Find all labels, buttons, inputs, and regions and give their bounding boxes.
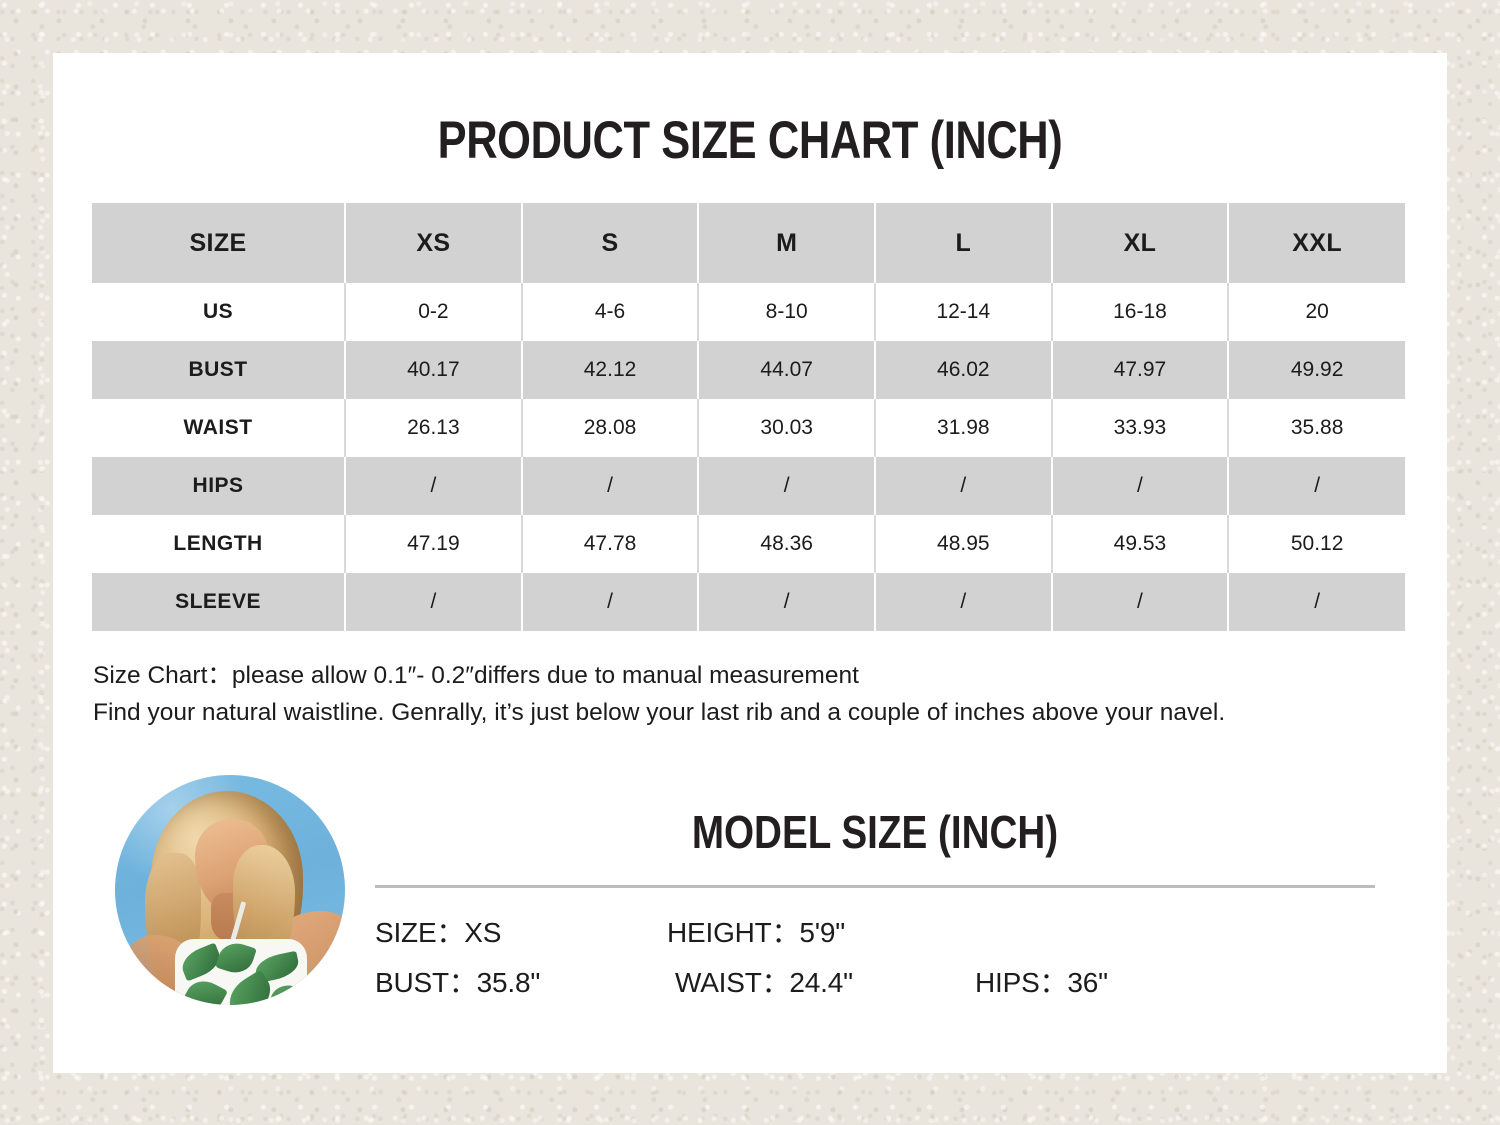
cell-length-s: 47.78	[522, 515, 699, 573]
note-line-1: Size Chart：please allow 0.1″- 0.2″differ…	[93, 657, 1413, 694]
cell-length-m: 48.36	[698, 515, 875, 573]
model-size-section: MODEL SIZE (INCH) SIZE：XS HEIGHT：5'9" BU…	[53, 753, 1447, 1053]
cell-waist-m: 30.03	[698, 399, 875, 457]
row-label-waist: WAIST	[92, 399, 345, 457]
cell-bust-m: 44.07	[698, 341, 875, 399]
page-title: PRODUCT SIZE CHART (INCH)	[178, 110, 1321, 171]
table-row: WAIST 26.13 28.08 30.03 31.98 33.93 35.8…	[92, 399, 1405, 457]
cell-us-l: 12-14	[875, 283, 1052, 341]
cell-sleeve-s: /	[522, 573, 699, 631]
cell-bust-s: 42.12	[522, 341, 699, 399]
product-size-table: SIZE XS S M L XL XXL US 0-2 4-6 8-10 12-…	[92, 203, 1405, 631]
measurement-notes: Size Chart：please allow 0.1″- 0.2″differ…	[93, 657, 1413, 731]
row-label-sleeve: SLEEVE	[92, 573, 345, 631]
model-stat-hips: HIPS：36"	[975, 961, 1108, 1001]
model-stats: SIZE：XS HEIGHT：5'9" BUST：35.8" WAIST：24.…	[375, 905, 1385, 1015]
row-label-bust: BUST	[92, 341, 345, 399]
cell-us-xxl: 20	[1228, 283, 1405, 341]
cell-length-xxl: 50.12	[1228, 515, 1405, 573]
cell-length-l: 48.95	[875, 515, 1052, 573]
leaf-icon	[215, 939, 257, 978]
table-row: HIPS / / / / / /	[92, 457, 1405, 515]
column-header-s: S	[522, 203, 699, 283]
column-header-m: M	[698, 203, 875, 283]
cell-hips-xxl: /	[1228, 457, 1405, 515]
column-header-xl: XL	[1052, 203, 1229, 283]
cell-bust-xxl: 49.92	[1228, 341, 1405, 399]
cell-waist-xl: 33.93	[1052, 399, 1229, 457]
cell-bust-xl: 47.97	[1052, 341, 1229, 399]
cell-bust-xs: 40.17	[345, 341, 522, 399]
column-header-size: SIZE	[92, 203, 345, 283]
table-row: BUST 40.17 42.12 44.07 46.02 47.97 49.92	[92, 341, 1405, 399]
model-tropical-top	[175, 939, 307, 1005]
column-header-l: L	[875, 203, 1052, 283]
cell-waist-xs: 26.13	[345, 399, 522, 457]
model-stat-height: HEIGHT：5'9"	[667, 911, 845, 951]
cell-length-xs: 47.19	[345, 515, 522, 573]
cell-us-s: 4-6	[522, 283, 699, 341]
cell-sleeve-xl: /	[1052, 573, 1229, 631]
cell-us-xl: 16-18	[1052, 283, 1229, 341]
model-photo	[115, 775, 345, 1005]
row-label-length: LENGTH	[92, 515, 345, 573]
leaf-icon	[268, 982, 306, 1005]
cell-hips-s: /	[522, 457, 699, 515]
cell-waist-l: 31.98	[875, 399, 1052, 457]
cell-hips-l: /	[875, 457, 1052, 515]
cell-waist-xxl: 35.88	[1228, 399, 1405, 457]
cell-hips-m: /	[698, 457, 875, 515]
cell-waist-s: 28.08	[522, 399, 699, 457]
cell-bust-l: 46.02	[875, 341, 1052, 399]
row-label-hips: HIPS	[92, 457, 345, 515]
cell-hips-xs: /	[345, 457, 522, 515]
model-stat-size: SIZE：XS	[375, 911, 501, 951]
model-divider	[375, 885, 1375, 888]
cell-sleeve-l: /	[875, 573, 1052, 631]
column-header-xs: XS	[345, 203, 522, 283]
table-row: SLEEVE / / / / / /	[92, 573, 1405, 631]
model-stat-waist: WAIST：24.4"	[675, 961, 853, 1001]
model-size-title: MODEL SIZE (INCH)	[455, 805, 1295, 859]
cell-sleeve-m: /	[698, 573, 875, 631]
cell-length-xl: 49.53	[1052, 515, 1229, 573]
cell-us-xs: 0-2	[345, 283, 522, 341]
cell-sleeve-xxl: /	[1228, 573, 1405, 631]
table-header-row: SIZE XS S M L XL XXL	[92, 203, 1405, 283]
table-row: US 0-2 4-6 8-10 12-14 16-18 20	[92, 283, 1405, 341]
model-stat-bust: BUST：35.8"	[375, 961, 540, 1001]
cell-us-m: 8-10	[698, 283, 875, 341]
column-header-xxl: XXL	[1228, 203, 1405, 283]
note-line-2: Find your natural waistline. Genrally, i…	[93, 694, 1413, 731]
cell-hips-xl: /	[1052, 457, 1229, 515]
table-row: LENGTH 47.19 47.78 48.36 48.95 49.53 50.…	[92, 515, 1405, 573]
cell-sleeve-xs: /	[345, 573, 522, 631]
row-label-us: US	[92, 283, 345, 341]
size-chart-card: PRODUCT SIZE CHART (INCH) SIZE XS S M L …	[53, 53, 1447, 1073]
